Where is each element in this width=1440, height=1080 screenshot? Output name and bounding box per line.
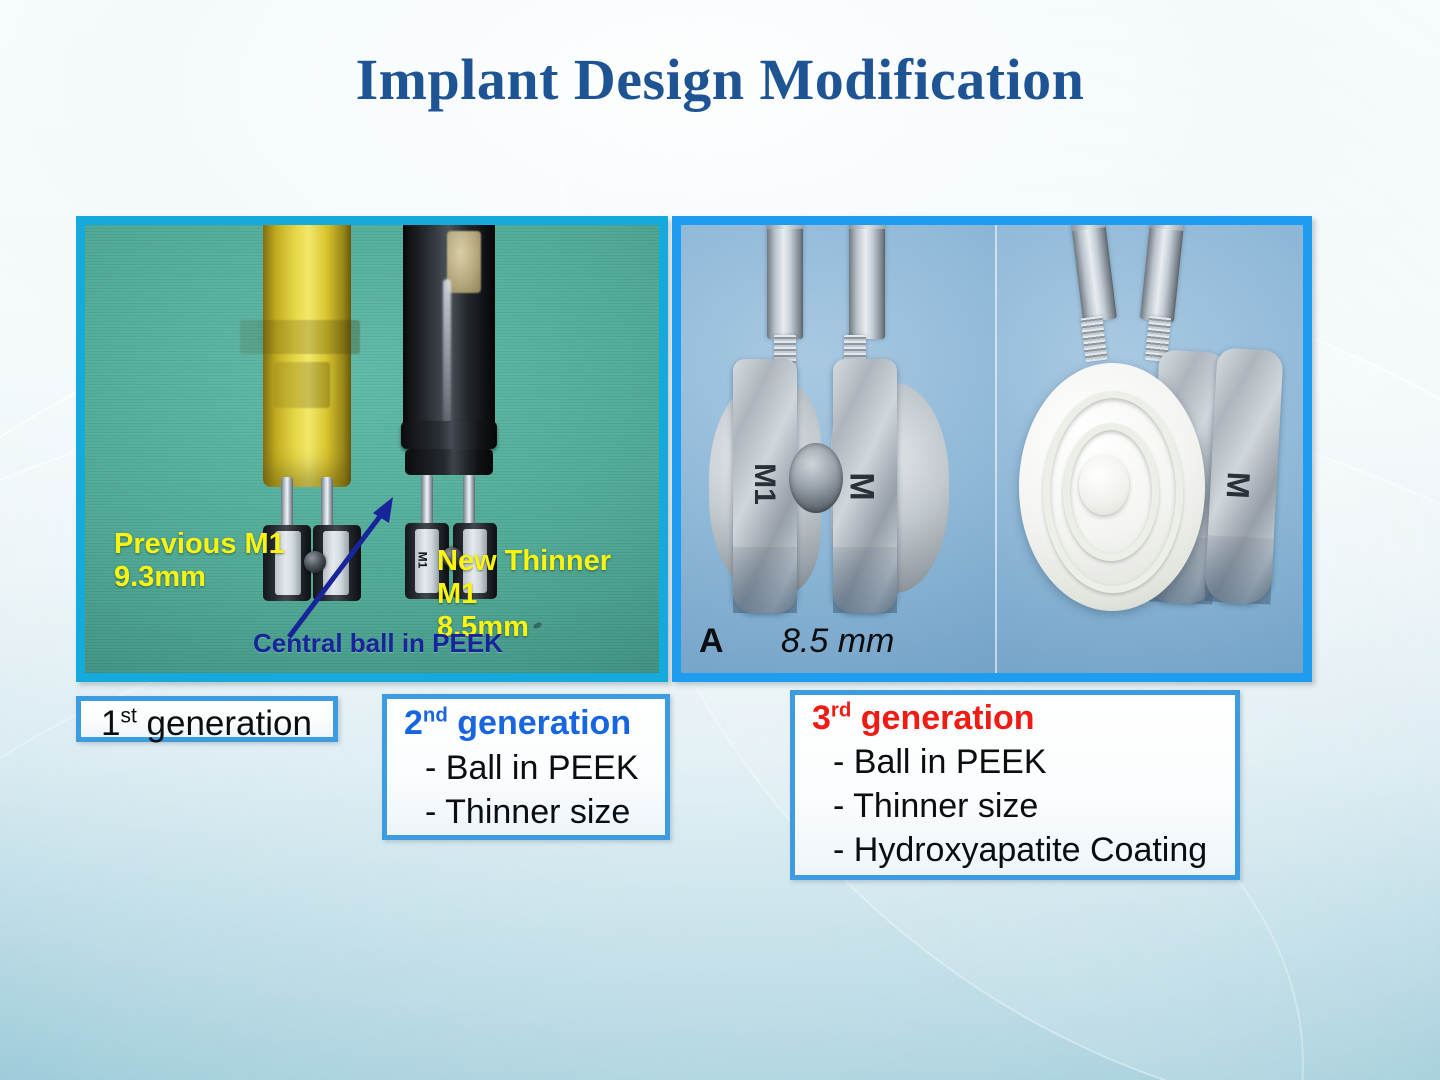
label-central-ball-in-peek: Central ball in PEEK xyxy=(253,628,503,659)
sub-photo-b: M1 M xyxy=(997,225,1303,673)
caption-heading-first-generation: 1st generation xyxy=(101,704,312,744)
black-handle-collar-2 xyxy=(405,449,493,475)
caption-box-second-generation: 2nd generation - Ball in PEEK - Thinner … xyxy=(382,694,670,840)
gen-number: 1 xyxy=(101,704,120,743)
caption-bullet: - Ball in PEEK xyxy=(425,749,639,788)
implant-plate-left: M1 xyxy=(733,359,797,613)
implant-mark-m1: M1 xyxy=(415,552,429,569)
caption-heading-third-generation: 3rd generation xyxy=(812,699,1035,738)
caption-bullet: - Hydroxyapatite Coating xyxy=(833,831,1207,870)
implant-plate-right: M xyxy=(833,359,897,613)
black-handle-highlight xyxy=(443,279,451,429)
label-dimension-85mm: 8.5 mm xyxy=(781,622,894,661)
plate-bevel xyxy=(733,547,797,613)
black-handle-chuck xyxy=(447,231,481,293)
page-title: Implant Design Modification xyxy=(0,46,1440,113)
panel-letter-a: A xyxy=(699,622,724,661)
photo-green-drape: M1 Previous M1 9.3mm New Thinner M1 8.5m… xyxy=(85,225,659,673)
yellow-handle-marking xyxy=(240,320,360,354)
hydroxyapatite-core xyxy=(1079,455,1129,515)
implant-mark-m1: M1 xyxy=(747,463,781,505)
rod-right xyxy=(1140,225,1184,323)
caption-box-first-generation: 1st generation xyxy=(76,696,338,742)
gen-word: generation xyxy=(851,699,1034,737)
gen-ordinal-suffix: nd xyxy=(423,705,448,727)
thread-left xyxy=(1080,316,1107,362)
caption-bullet: - Ball in PEEK xyxy=(833,743,1047,782)
yellow-handle-body xyxy=(263,225,351,487)
caption-heading-second-generation: 2nd generation xyxy=(404,704,631,743)
black-handle-collar xyxy=(401,421,497,449)
sub-photo-a: M1 M A 8.5 mm xyxy=(681,225,997,673)
plate-bevel xyxy=(1204,535,1273,604)
yellow-handle-marking-2 xyxy=(274,362,330,408)
panel-left-generations-photo: M1 Previous M1 9.3mm New Thinner M1 8.5m… xyxy=(76,216,668,682)
gen-word: generation xyxy=(137,704,312,743)
instrument-yellow-handle xyxy=(263,225,351,525)
central-ball xyxy=(789,443,843,513)
implant-mark-m: M xyxy=(842,472,881,500)
implant-plate-m: M xyxy=(1204,347,1283,604)
caption-bullet: - Thinner size xyxy=(833,787,1038,826)
instrument-black-handle xyxy=(403,225,495,525)
slide-canvas: Implant Design Modification xyxy=(0,0,1440,1080)
panel-right-third-generation-photo: M1 M A 8.5 mm M1 xyxy=(672,216,1312,682)
rod-right xyxy=(849,225,885,339)
gen-ordinal-suffix: st xyxy=(120,704,136,727)
caption-bullet: - Thinner size xyxy=(425,793,630,832)
gen-word: generation xyxy=(448,704,631,742)
gen-number: 2 xyxy=(404,704,423,742)
rod-left xyxy=(1071,225,1117,323)
plate-bevel xyxy=(833,547,897,613)
rod-left xyxy=(767,225,803,339)
implant-mark-m: M xyxy=(1219,471,1257,500)
caption-box-third-generation: 3rd generation - Ball in PEEK - Thinner … xyxy=(790,690,1240,880)
photo-blue-studio: M1 M A 8.5 mm M1 xyxy=(681,225,1303,673)
gen-ordinal-suffix: rd xyxy=(831,700,851,722)
gen-number: 3 xyxy=(812,699,831,737)
callout-arrow-icon xyxy=(281,491,411,641)
label-previous-m1: Previous M1 9.3mm xyxy=(114,528,285,594)
